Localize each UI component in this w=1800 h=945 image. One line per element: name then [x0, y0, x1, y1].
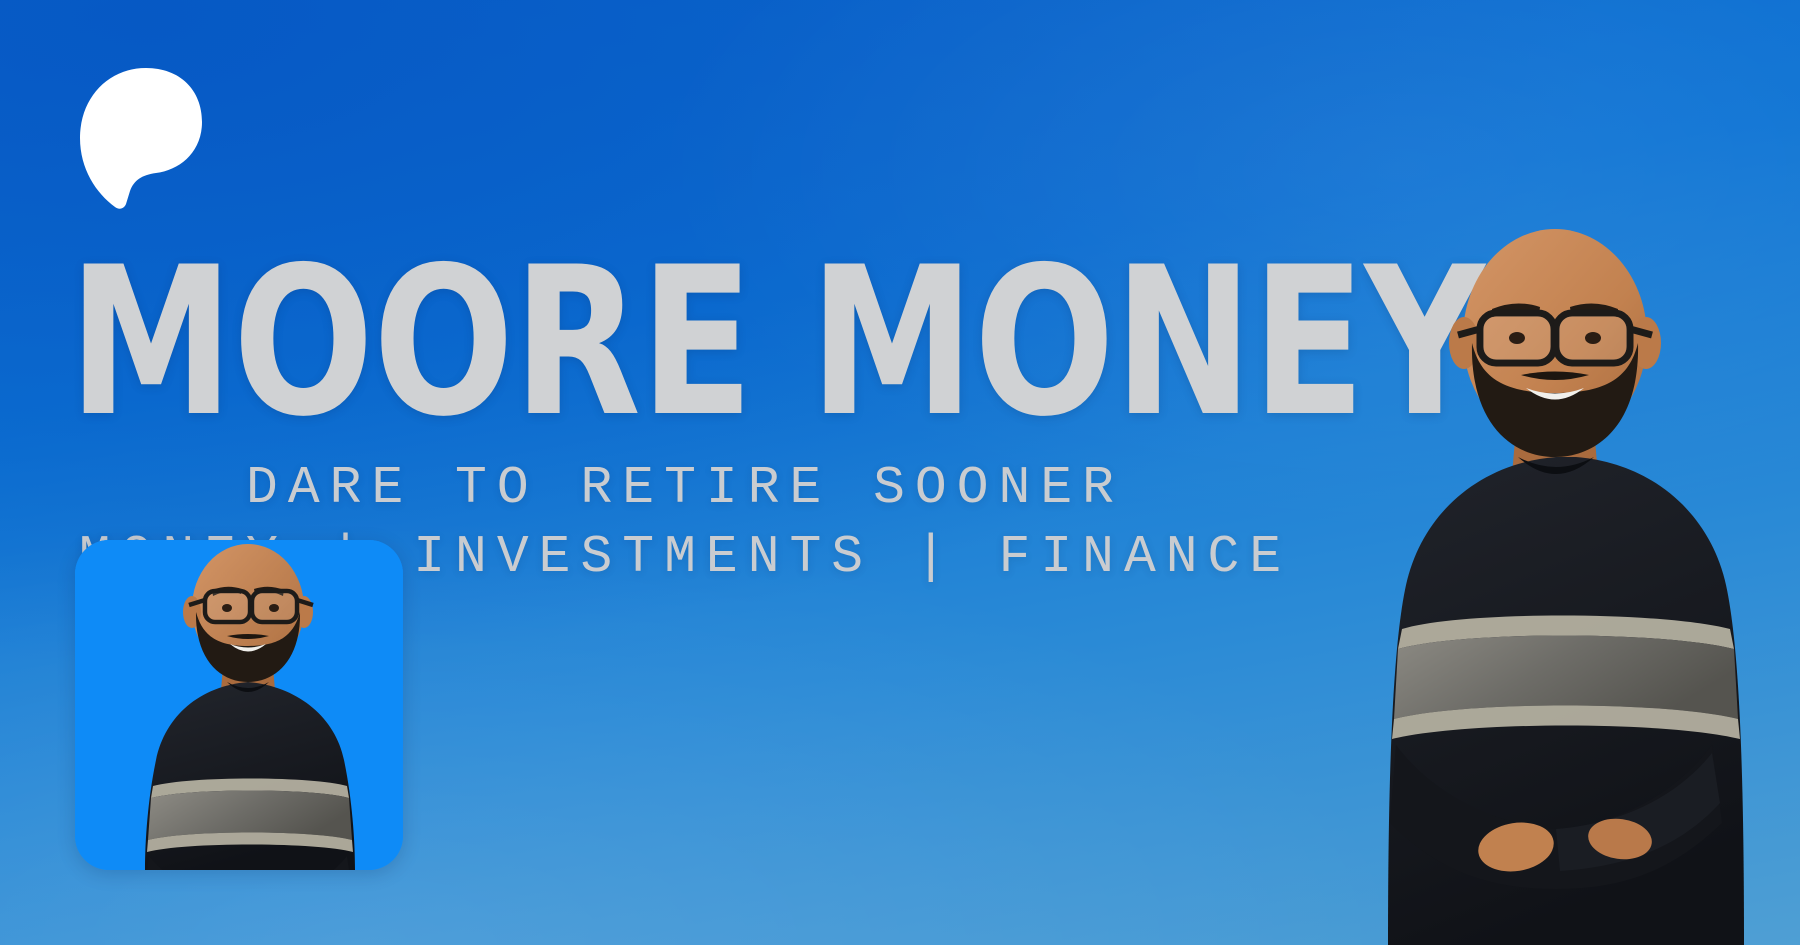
patreon-logo[interactable]: Patreon logo	[76, 60, 206, 210]
creator-hero-photo: Creator portrait, arms crossed	[1330, 225, 1800, 945]
banner-headline-block: MOORE MONEY DARE TO RETIRE SOONER MONEY …	[0, 255, 1370, 588]
creator-avatar[interactable]: Creator profile photo	[75, 540, 403, 870]
page-title: MOORE MONEY	[69, 255, 1302, 431]
banner-subtitle-line-1: DARE TO RETIRE SOONER	[0, 457, 1370, 520]
creator-banner: Patreon logo MOORE MONEY DARE TO RETIRE …	[0, 0, 1800, 945]
patreon-logo-label: Patreon logo	[76, 210, 77, 211]
